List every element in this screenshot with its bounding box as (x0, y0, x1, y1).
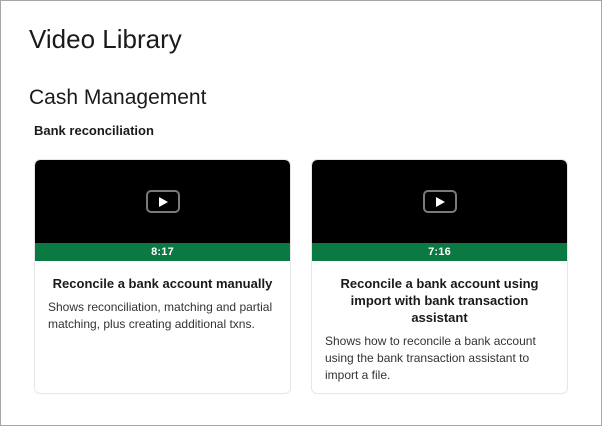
duration-bar: 8:17 (35, 243, 290, 261)
section-title-cash-management: Cash Management (29, 85, 206, 111)
video-title: Reconcile a bank account manually (48, 275, 277, 292)
video-card[interactable]: 8:17 Reconcile a bank account manually S… (34, 159, 291, 394)
video-description: Shows reconciliation, matching and parti… (48, 299, 277, 333)
subsection-title-bank-reconciliation: Bank reconciliation (34, 122, 154, 139)
video-thumbnail[interactable] (312, 160, 567, 243)
video-duration: 8:17 (151, 243, 174, 261)
page-title: Video Library (29, 23, 182, 55)
play-triangle-icon (159, 197, 168, 207)
duration-bar: 7:16 (312, 243, 567, 261)
play-icon[interactable] (146, 190, 180, 213)
video-duration: 7:16 (428, 243, 451, 261)
video-library-page: Video Library Cash Management Bank recon… (0, 0, 602, 426)
card-body: Reconcile a bank account manually Shows … (35, 261, 290, 393)
video-title: Reconcile a bank account using import wi… (325, 275, 554, 326)
video-thumbnail[interactable] (35, 160, 290, 243)
card-body: Reconcile a bank account using import wi… (312, 261, 567, 394)
play-triangle-icon (436, 197, 445, 207)
play-icon[interactable] (423, 190, 457, 213)
video-description: Shows how to reconcile a bank account us… (325, 333, 554, 384)
video-card-list: 8:17 Reconcile a bank account manually S… (34, 159, 568, 394)
video-card[interactable]: 7:16 Reconcile a bank account using impo… (311, 159, 568, 394)
